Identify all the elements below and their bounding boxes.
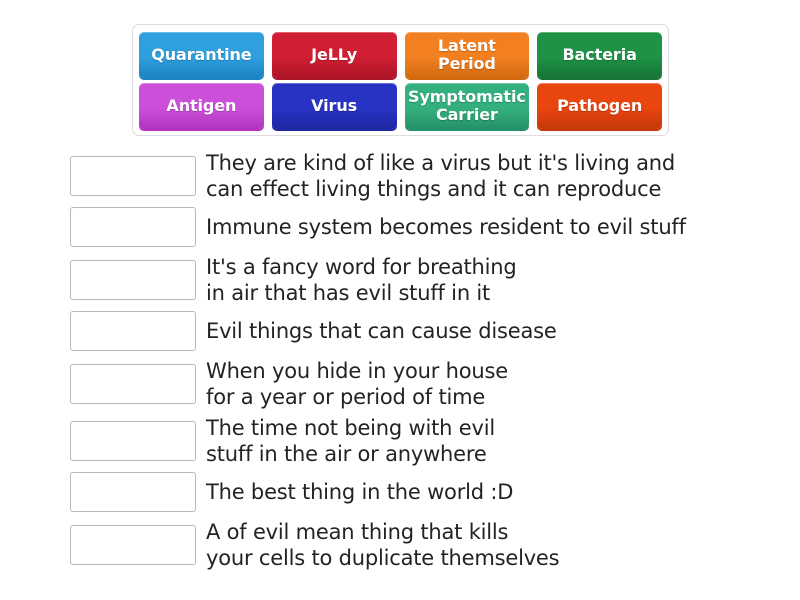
answer-dropzone[interactable] <box>70 421 196 461</box>
answer-definition-text: A of evil mean thing that kills your cel… <box>206 519 559 571</box>
word-tile-quarantine[interactable]: Quarantine <box>139 32 264 78</box>
answer-dropzone[interactable] <box>70 207 196 247</box>
answer-dropzone[interactable] <box>70 472 196 512</box>
answer-definition-text: They are kind of like a virus but it's l… <box>206 150 675 202</box>
answer-row: It's a fancy word for breathing in air t… <box>70 254 770 306</box>
answer-definition-text: Immune system becomes resident to evil s… <box>206 214 686 240</box>
answer-rows-container: They are kind of like a virus but it's l… <box>70 150 770 576</box>
answer-row: A of evil mean thing that kills your cel… <box>70 519 770 571</box>
word-bank-container: QuarantineJeLLyLatent PeriodBacteriaAnti… <box>132 24 669 136</box>
answer-row: Immune system becomes resident to evil s… <box>70 207 770 247</box>
word-tile-bacteria[interactable]: Bacteria <box>537 32 662 78</box>
answer-dropzone[interactable] <box>70 364 196 404</box>
match-up-activity: QuarantineJeLLyLatent PeriodBacteriaAnti… <box>0 0 800 600</box>
word-tile-label: Symptomatic Carrier <box>408 88 526 124</box>
word-bank-row: QuarantineJeLLyLatent PeriodBacteria <box>139 32 662 80</box>
answer-dropzone[interactable] <box>70 311 196 351</box>
answer-row: They are kind of like a virus but it's l… <box>70 150 770 202</box>
word-tile-jelly[interactable]: JeLLy <box>272 32 397 78</box>
answer-dropzone[interactable] <box>70 525 196 565</box>
word-tile-virus[interactable]: Virus <box>272 83 397 129</box>
answer-definition-text: When you hide in your house for a year o… <box>206 358 508 410</box>
word-tile-antigen[interactable]: Antigen <box>139 83 264 129</box>
answer-dropzone[interactable] <box>70 156 196 196</box>
word-tile-symptomatic-carrier[interactable]: Symptomatic Carrier <box>405 83 530 129</box>
answer-row: When you hide in your house for a year o… <box>70 358 770 410</box>
word-tile-label: Bacteria <box>562 46 636 64</box>
answer-row: Evil things that can cause disease <box>70 311 770 351</box>
answer-definition-text: The best thing in the world :D <box>206 479 513 505</box>
answer-definition-text: Evil things that can cause disease <box>206 318 557 344</box>
word-tile-label: JeLLy <box>311 46 357 64</box>
answer-row: The best thing in the world :D <box>70 472 770 512</box>
word-tile-label: Pathogen <box>557 97 642 115</box>
answer-definition-text: It's a fancy word for breathing in air t… <box>206 254 517 306</box>
word-tile-label: Antigen <box>166 97 236 115</box>
word-tile-label: Virus <box>311 97 357 115</box>
word-tile-pathogen[interactable]: Pathogen <box>537 83 662 129</box>
answer-dropzone[interactable] <box>70 260 196 300</box>
word-tile-label: Latent Period <box>408 37 527 73</box>
word-tile-latent-period[interactable]: Latent Period <box>405 32 530 78</box>
word-bank-row: AntigenVirusSymptomatic CarrierPathogen <box>139 83 662 131</box>
word-tile-label: Quarantine <box>151 46 251 64</box>
answer-row: The time not being with evil stuff in th… <box>70 415 770 467</box>
answer-definition-text: The time not being with evil stuff in th… <box>206 415 495 467</box>
